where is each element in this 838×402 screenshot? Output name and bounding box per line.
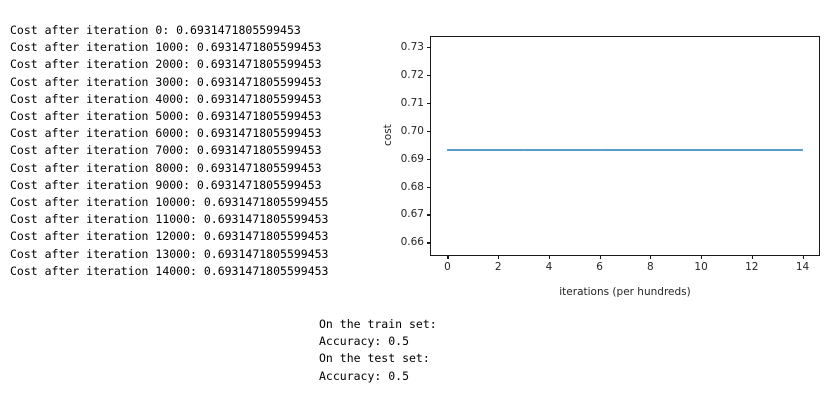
console-line: Cost after iteration 11000: 0.6931471805…	[10, 211, 329, 228]
x-axis-tick-label: 14	[796, 262, 809, 273]
x-axis-tick	[803, 255, 804, 259]
x-axis-tick-label: 2	[495, 262, 502, 273]
cost-line-segment	[726, 149, 752, 151]
console-line: Cost after iteration 3000: 0.69314718055…	[10, 74, 329, 91]
x-axis-tick-label: 10	[694, 262, 707, 273]
y-axis-tick	[427, 159, 431, 160]
x-axis-label: iterations (per hundreds)	[430, 286, 820, 298]
console-line: On the train set:	[319, 316, 437, 333]
plot-title: Learning rate =0.01	[808, 22, 838, 36]
cost-line-segment	[600, 149, 626, 151]
x-axis-tick	[600, 255, 601, 259]
x-axis-tick	[650, 255, 651, 259]
cost-line-segment	[752, 149, 778, 151]
y-axis-tick	[427, 242, 431, 243]
y-axis-tick	[427, 75, 431, 76]
y-axis-tick-label: 0.66	[401, 237, 424, 248]
cost-line-segment	[498, 149, 524, 151]
y-axis-tick-label: 0.70	[401, 125, 424, 136]
console-line: Cost after iteration 12000: 0.6931471805…	[10, 228, 329, 245]
y-axis-tick-label: 0.71	[401, 97, 424, 108]
cost-line-segment	[549, 149, 575, 151]
x-axis-tick	[498, 255, 499, 259]
x-axis-tick-label: 12	[745, 262, 758, 273]
console-line: Cost after iteration 2000: 0.69314718055…	[10, 56, 329, 73]
y-axis-tick-label: 0.69	[401, 153, 424, 164]
console-line: Cost after iteration 8000: 0.69314718055…	[10, 160, 329, 177]
cost-line-segment	[625, 149, 651, 151]
cost-line-segment	[447, 149, 473, 151]
x-axis-tick-label: 6	[596, 262, 603, 273]
cost-line-segment	[701, 149, 727, 151]
cost-line-segment	[650, 149, 676, 151]
console-line: Cost after iteration 6000: 0.69314718055…	[10, 125, 329, 142]
console-line: Cost after iteration 5000: 0.69314718055…	[10, 108, 329, 125]
y-axis-tick	[427, 47, 431, 48]
cost-line-segment	[777, 149, 803, 151]
x-axis-tick	[752, 255, 753, 259]
cost-log-output: Cost after iteration 0: 0.69314718055994…	[10, 22, 329, 280]
y-axis-tick	[427, 131, 431, 132]
console-line: On the test set:	[319, 350, 437, 367]
y-axis-tick-label: 0.73	[401, 42, 424, 53]
y-axis-label: cost	[382, 124, 394, 146]
x-axis-tick-label: 8	[647, 262, 654, 273]
cost-line-segment	[676, 149, 702, 151]
console-line: Accuracy: 0.5	[319, 368, 437, 385]
cost-line-segment	[574, 149, 600, 151]
x-axis-tick	[549, 255, 550, 259]
y-axis-tick	[427, 187, 431, 188]
accuracy-log-output: On the train set:Accuracy: 0.5On the tes…	[319, 316, 437, 385]
x-axis-tick-label: 4	[546, 262, 553, 273]
cost-plot-figure: Learning rate =0.01 cost 0.660.670.680.6…	[378, 8, 833, 298]
console-line: Cost after iteration 0: 0.69314718055994…	[10, 22, 329, 39]
x-axis-tick	[447, 255, 448, 259]
cost-line-segment	[524, 149, 550, 151]
console-line: Cost after iteration 1000: 0.69314718055…	[10, 39, 329, 56]
console-line: Cost after iteration 9000: 0.69314718055…	[10, 177, 329, 194]
cost-line-segment	[473, 149, 499, 151]
console-line: Cost after iteration 4000: 0.69314718055…	[10, 91, 329, 108]
y-axis-tick	[427, 214, 431, 215]
console-line: Cost after iteration 14000: 0.6931471805…	[10, 263, 329, 280]
console-line: Cost after iteration 13000: 0.6931471805…	[10, 246, 329, 263]
y-axis-tick-label: 0.72	[401, 69, 424, 80]
y-axis-tick-label: 0.67	[401, 209, 424, 220]
console-line: Cost after iteration 7000: 0.69314718055…	[10, 142, 329, 159]
console-line: Cost after iteration 10000: 0.6931471805…	[10, 194, 329, 211]
plot-axes: 0.660.670.680.690.700.710.720.7302468101…	[430, 36, 820, 256]
console-line: Accuracy: 0.5	[319, 333, 437, 350]
x-axis-tick	[701, 255, 702, 259]
x-axis-tick-label: 0	[444, 262, 451, 273]
y-axis-tick-label: 0.68	[401, 181, 424, 192]
y-axis-tick	[427, 103, 431, 104]
